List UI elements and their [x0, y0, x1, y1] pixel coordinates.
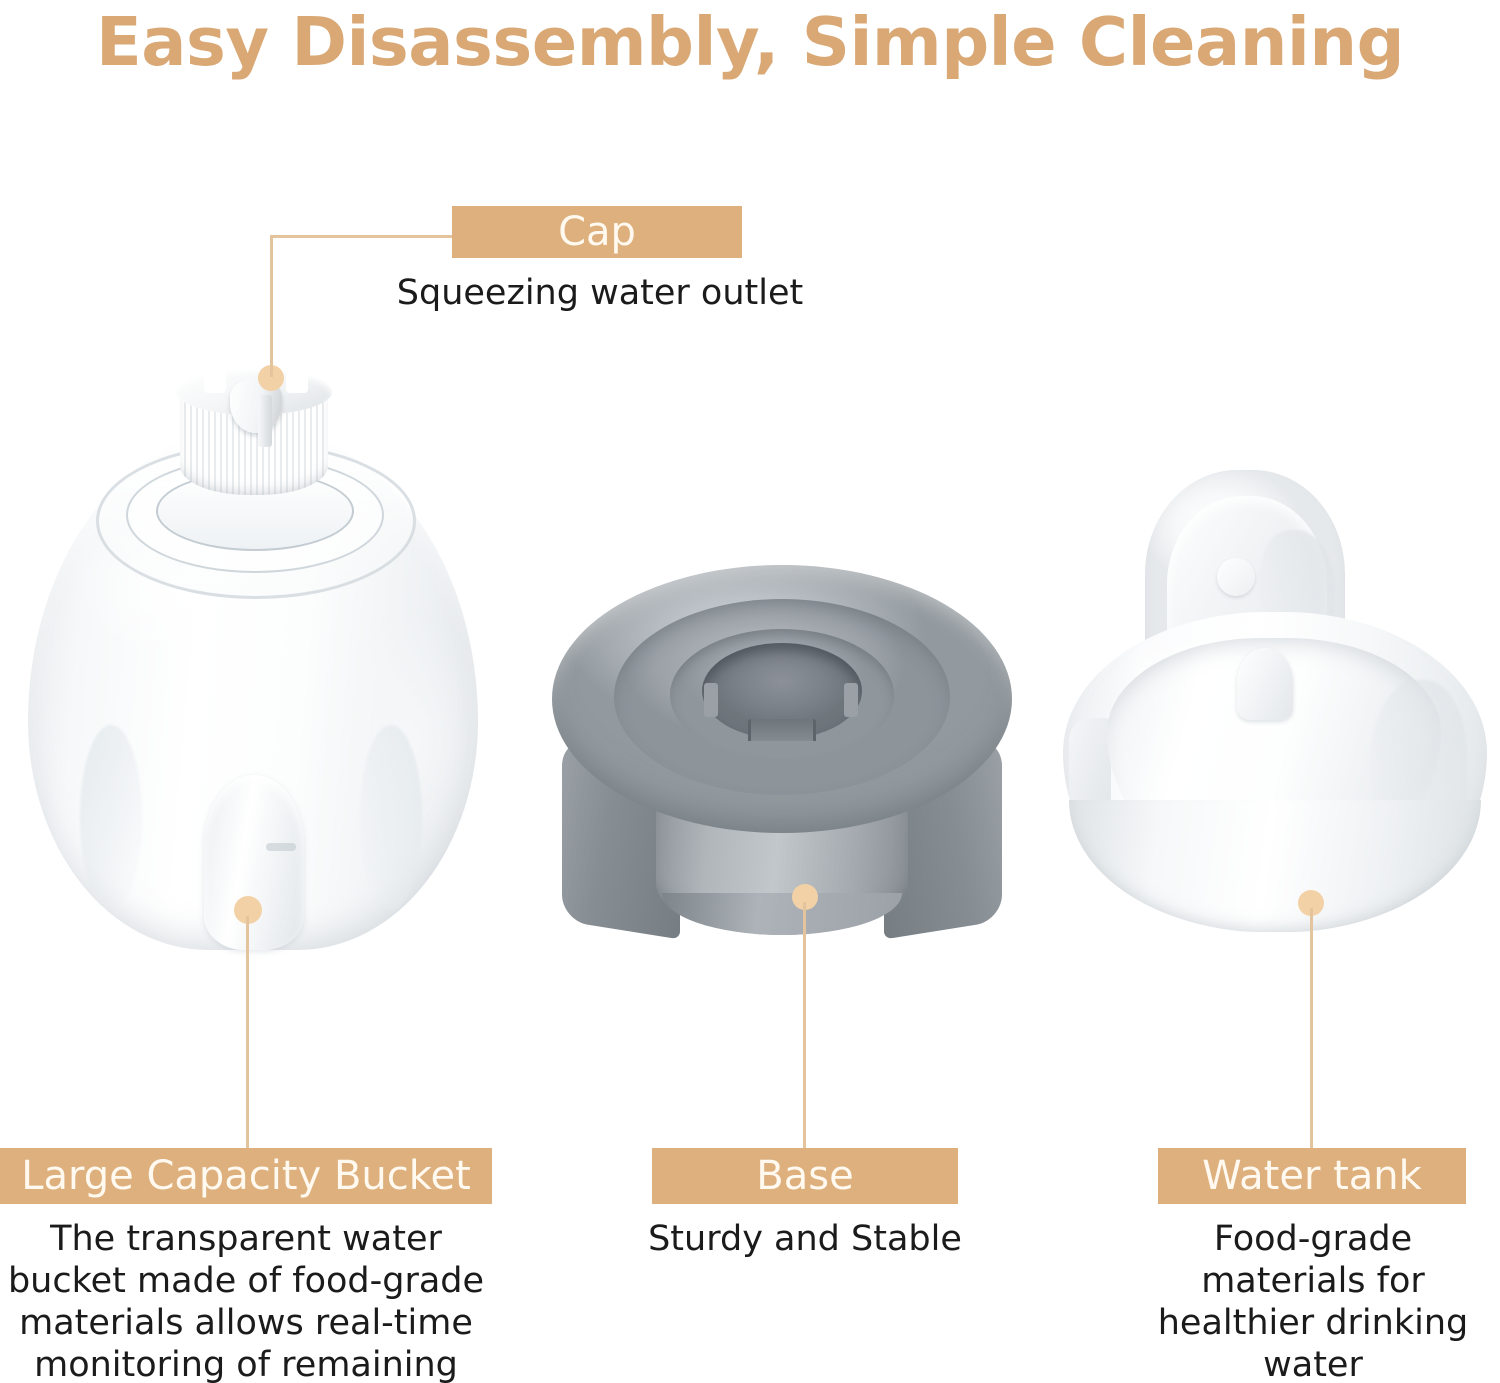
- leader-line-cap-vertical: [270, 237, 273, 377]
- callout-caption-cap: Squeezing water outlet: [340, 272, 860, 314]
- transparent-bucket-icon: [18, 345, 488, 985]
- base-hole-tab-right: [844, 683, 858, 717]
- leader-line-water-tank: [1310, 908, 1313, 1148]
- cap-notch-left: [204, 363, 226, 393]
- callout-caption-large-capacity-bucket: The transparent water bucket made of foo…: [0, 1218, 492, 1383]
- bucket-highlight-left: [80, 725, 142, 910]
- bucket-highlight-right: [360, 725, 422, 910]
- bucket-spout-marking: [266, 843, 296, 851]
- callout-label-water-tank: Water tank: [1158, 1148, 1466, 1204]
- leader-line-cap-horizontal: [270, 235, 456, 238]
- gray-base-icon: [552, 545, 1012, 950]
- tank-front-rim: [1069, 800, 1481, 932]
- leader-line-large-capacity-bucket: [246, 916, 249, 1148]
- bucket-spout-channel: [204, 775, 304, 950]
- leader-line-base: [803, 902, 806, 1148]
- product-infographic: Easy Disassembly, Simple Cleaning: [0, 0, 1500, 1383]
- tank-back-stud: [1217, 558, 1255, 596]
- base-hole-tab-left: [704, 683, 718, 717]
- callout-label-large-capacity-bucket: Large Capacity Bucket: [0, 1148, 492, 1204]
- callout-label-base: Base: [652, 1148, 958, 1204]
- callout-caption-water-tank: Food-grade materials for healthier drink…: [1128, 1218, 1498, 1383]
- page-title: Easy Disassembly, Simple Cleaning: [0, 2, 1500, 82]
- cap-valve-fin: [258, 395, 272, 447]
- base-hole-slot: [748, 719, 816, 741]
- callout-caption-base: Sturdy and Stable: [620, 1218, 990, 1260]
- tank-fountain-stud: [1237, 648, 1293, 720]
- white-water-tank-icon: [1055, 470, 1495, 940]
- cap-notch-right: [286, 363, 308, 393]
- base-pedestal-lip: [662, 893, 902, 935]
- callout-label-cap: Cap: [452, 206, 742, 258]
